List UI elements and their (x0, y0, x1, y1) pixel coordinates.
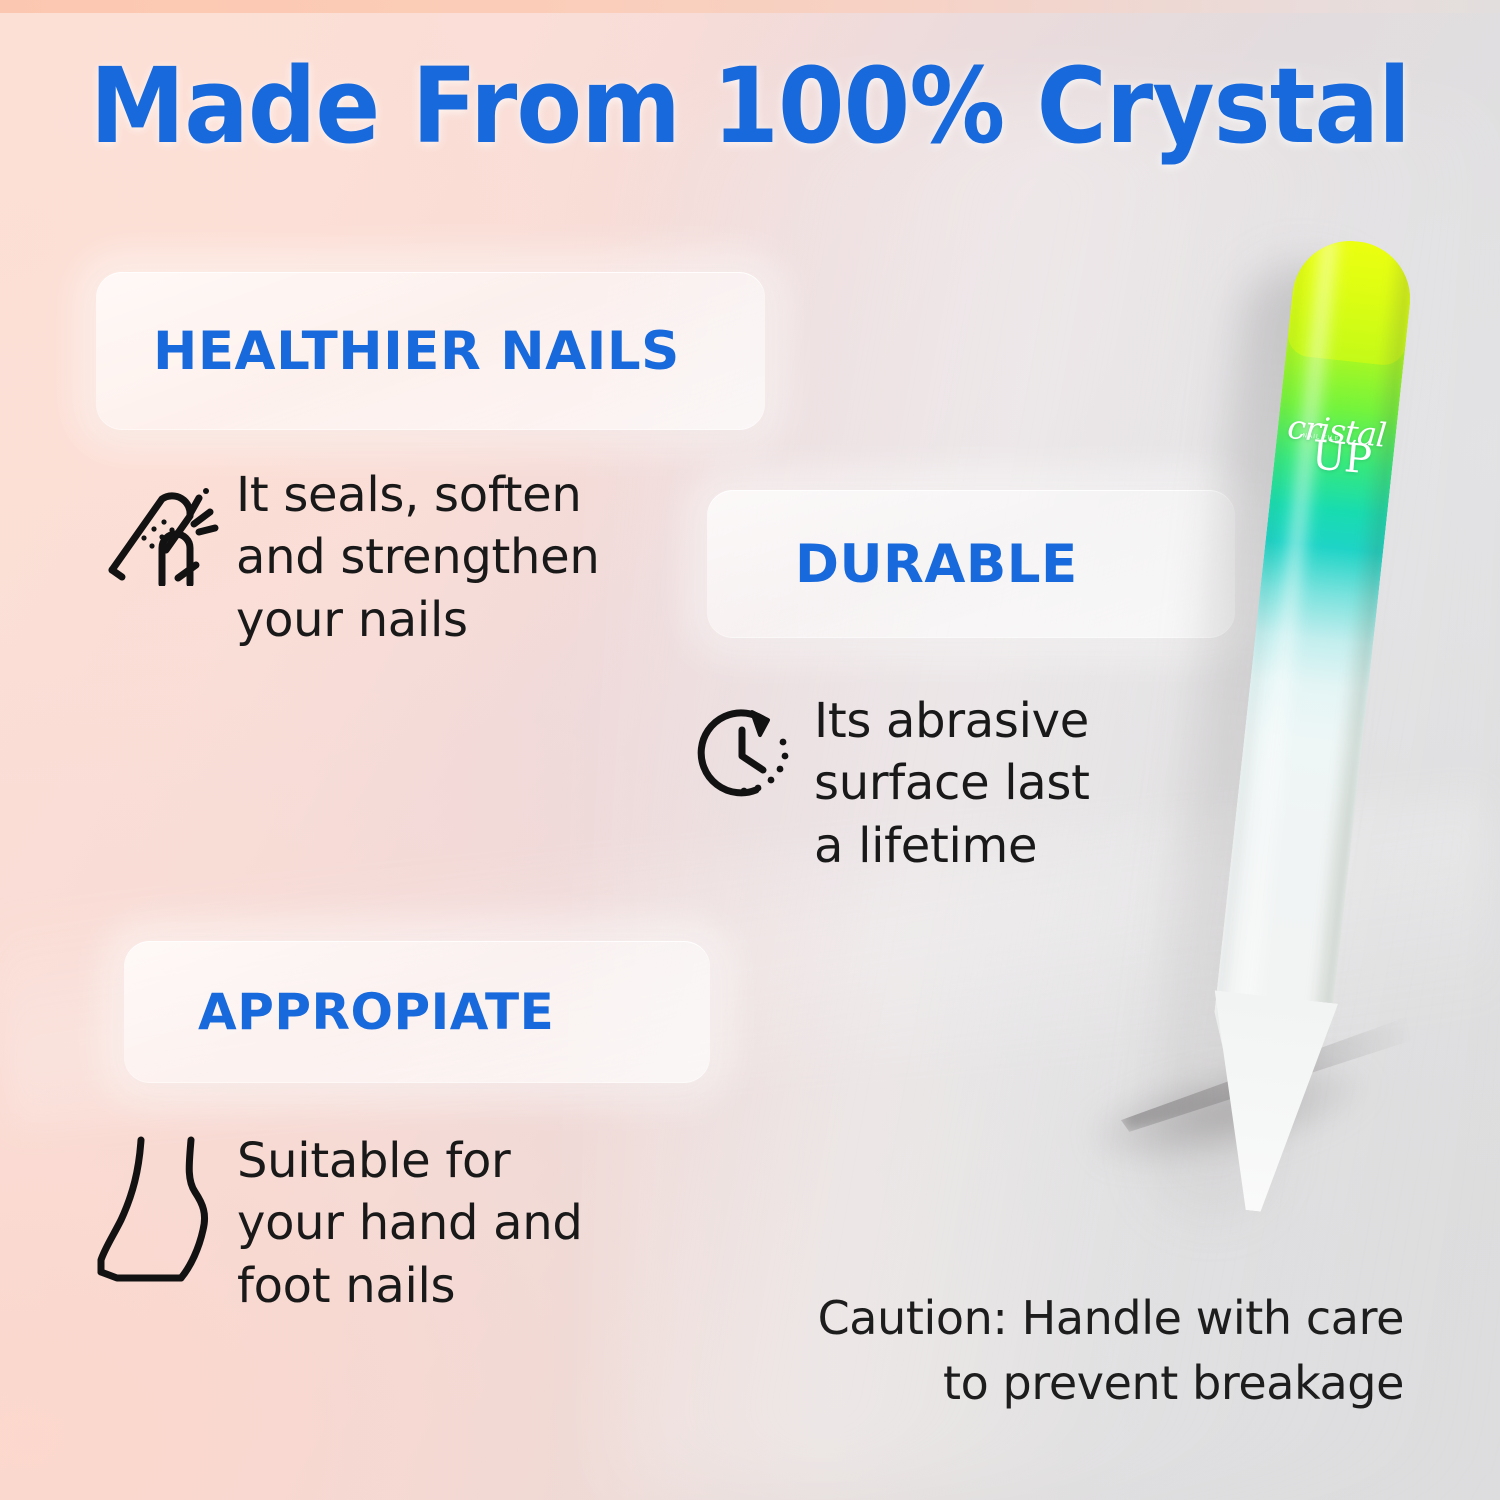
badge-healthier-nails-label: HEALTHIER NAILS (153, 321, 680, 382)
top-color-strip (0, 0, 1500, 13)
brand-logo: cristal NAIL FILE UP (1282, 411, 1389, 481)
clock-rotate-icon (690, 698, 800, 808)
badge-appropiate-label: APPROPIATE (198, 983, 554, 1041)
feature-appropiate: Suitable for your hand and foot nails (95, 1130, 665, 1317)
foot-outline-icon (95, 1132, 225, 1282)
nail-file-filing-icon (100, 466, 220, 586)
badge-appropiate: APPROPIATE (124, 941, 710, 1083)
poster-canvas: Made From 100% Crystal HEALTHIER NAILS (0, 0, 1500, 1500)
page-title-part-1: Made From (90, 45, 712, 167)
caution-note: Caution: Handle with care to prevent bre… (684, 1286, 1404, 1417)
feature-healthier-nails-text: It seals, soften and strengthen your nai… (236, 464, 600, 651)
badge-healthier-nails: HEALTHIER NAILS (96, 272, 765, 430)
page-title: Made From 100% Crystal (60, 52, 1440, 161)
feature-healthier-nails: It seals, soften and strengthen your nai… (100, 460, 700, 651)
page-title-part-2: 100% Crystal (712, 45, 1410, 167)
feature-appropiate-text: Suitable for your hand and foot nails (237, 1130, 583, 1317)
product-image-nail-file: cristal NAIL FILE UP (1020, 200, 1500, 1280)
